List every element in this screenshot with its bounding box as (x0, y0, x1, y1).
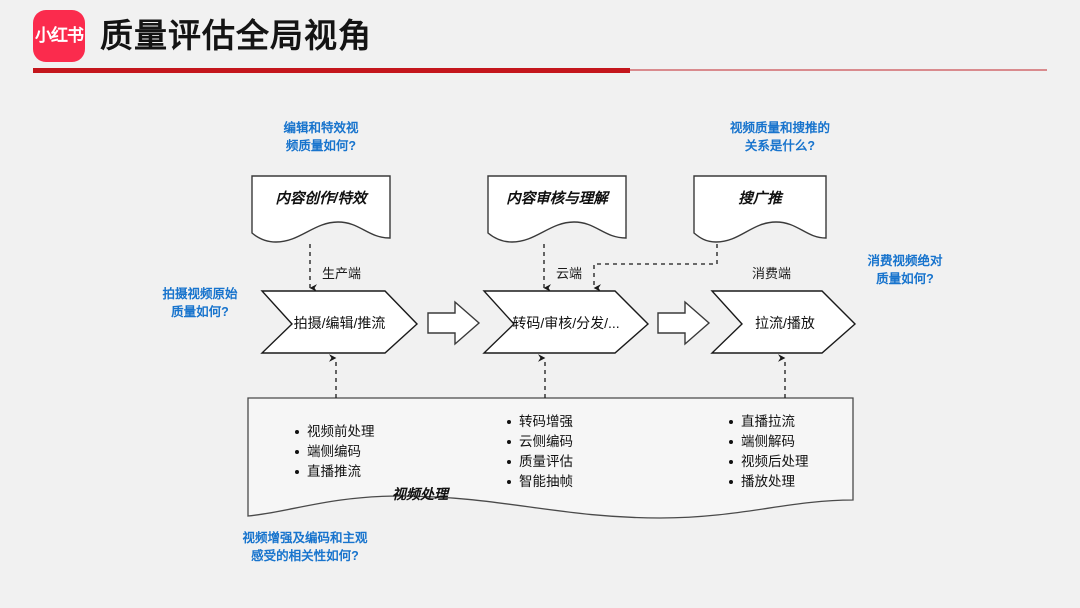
block-arrow-transcode-to-playback (658, 302, 709, 344)
document-shape-content-creation (252, 176, 390, 242)
processing-column-cloud: 转码增强 云侧编码 质量评估 智能抽帧 (505, 412, 573, 492)
processing-list-cloud: 转码增强 云侧编码 质量评估 智能抽帧 (505, 412, 573, 492)
chevron-label-capture: 拍摄/编辑/推流 (277, 314, 402, 332)
slide-canvas: 小红书 质量评估全局视角 (0, 0, 1080, 608)
list-item: 云侧编码 (505, 432, 573, 452)
processing-column-consumption: 直播拉流 端侧解码 视频后处理 播放处理 (727, 412, 809, 492)
list-item: 视频前处理 (293, 422, 375, 442)
list-item: 智能抽帧 (505, 472, 573, 492)
list-item: 端侧编码 (293, 442, 375, 462)
document-label-content-creation: 内容创作/特效 (252, 190, 390, 208)
list-item: 端侧解码 (727, 432, 809, 452)
document-shape-search-promotion (694, 176, 826, 242)
document-label-search-promotion: 搜广推 (694, 190, 826, 208)
stage-label-production: 生产端 (322, 266, 361, 282)
processing-list-consumption: 直播拉流 端侧解码 视频后处理 播放处理 (727, 412, 809, 492)
stage-label-consumption: 消费端 (752, 266, 791, 282)
list-item: 质量评估 (505, 452, 573, 472)
processing-title: 视频处理 (392, 485, 448, 503)
chevron-label-transcode: 转码/审核/分发/... (500, 314, 632, 332)
list-item: 视频后处理 (727, 452, 809, 472)
processing-list-production: 视频前处理 端侧编码 直播推流 (293, 422, 375, 482)
note-search-relation: 视频质量和搜推的 关系是什么? (690, 119, 870, 155)
document-label-content-review: 内容审核与理解 (488, 190, 626, 208)
note-capture-quality: 拍摄视频原始 质量如何? (130, 285, 270, 321)
connector-search-to-transcode (594, 244, 717, 288)
stage-label-cloud: 云端 (556, 266, 582, 282)
document-shape-content-review (488, 176, 626, 242)
processing-column-production: 视频前处理 端侧编码 直播推流 (293, 422, 375, 482)
list-item: 直播拉流 (727, 412, 809, 432)
list-item: 播放处理 (727, 472, 809, 492)
list-item: 转码增强 (505, 412, 573, 432)
chevron-label-playback: 拉流/播放 (730, 314, 840, 332)
list-item: 直播推流 (293, 462, 375, 482)
block-arrow-capture-to-transcode (428, 302, 479, 344)
note-edit-quality: 编辑和特效视 频质量如何? (251, 119, 391, 155)
note-consume-quality: 消费视频绝对 质量如何? (835, 252, 975, 288)
note-enhance-relation: 视频增强及编码和主观 感受的相关性如何? (200, 529, 410, 565)
